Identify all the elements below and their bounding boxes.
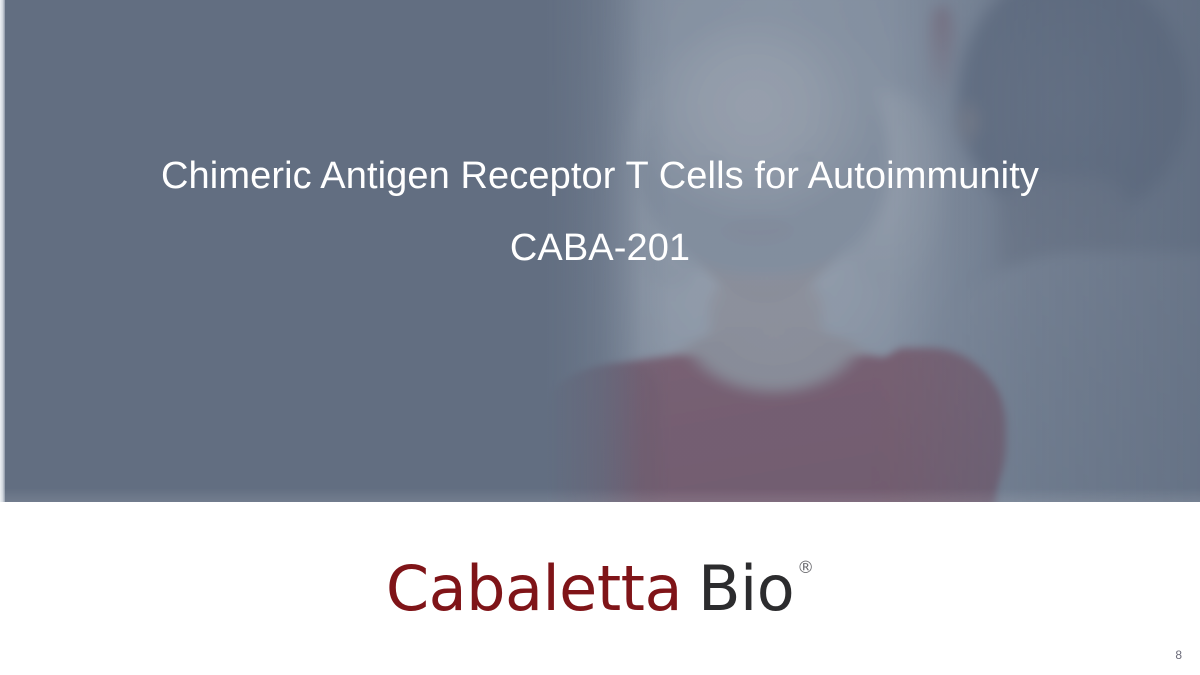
logo-word-bio: Bio [698, 558, 794, 620]
slide: Chimeric Antigen Receptor T Cells for Au… [0, 0, 1200, 675]
registered-trademark-icon: ® [797, 560, 814, 577]
cabaletta-bio-logo: Cabaletta Bio ® [0, 558, 1200, 620]
hero-slate-fade [546, 0, 642, 502]
hero-bottom-fade [0, 488, 1200, 502]
hero-banner: Chimeric Antigen Receptor T Cells for Au… [0, 0, 1200, 502]
hero-slate-panel [0, 0, 546, 502]
hero-left-edge-strip [0, 0, 5, 502]
slide-footer: Cabaletta Bio ® [0, 502, 1200, 675]
logo-word-cabaletta: Cabaletta [386, 558, 682, 620]
page-number: 8 [1175, 649, 1182, 661]
